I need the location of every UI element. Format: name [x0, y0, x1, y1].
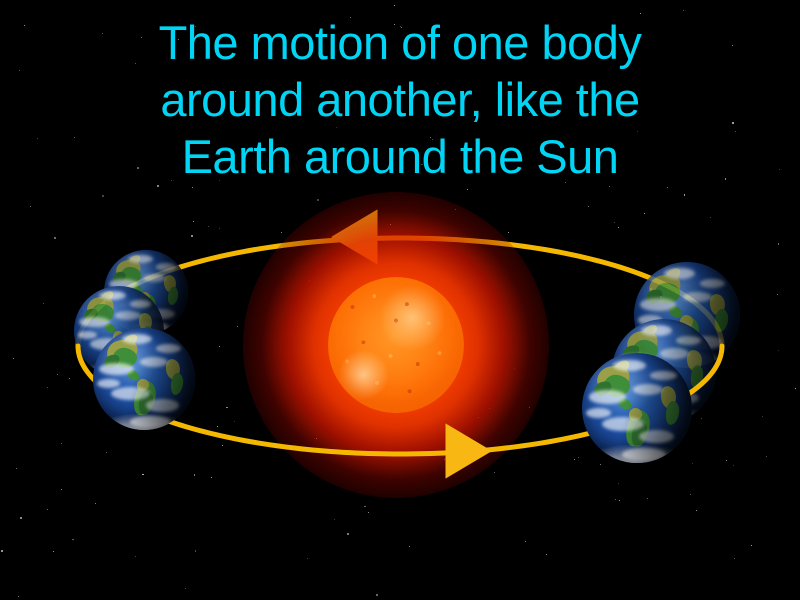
star	[47, 387, 48, 388]
star	[733, 465, 734, 466]
star	[157, 185, 159, 187]
star	[644, 213, 645, 214]
star	[376, 594, 378, 596]
sun-disc	[328, 277, 464, 413]
earth-right-front	[582, 353, 692, 463]
star	[394, 5, 395, 6]
star	[710, 217, 711, 218]
star	[588, 206, 589, 207]
star	[222, 445, 223, 446]
star	[16, 468, 17, 469]
star	[191, 235, 193, 237]
star	[18, 596, 19, 597]
star	[795, 388, 796, 389]
star	[135, 556, 136, 557]
sun-granulation-texture	[328, 277, 464, 413]
star	[13, 358, 14, 359]
title-line-3: Earth around the Sun	[0, 128, 800, 185]
title-line-2: around another, like the	[0, 71, 800, 128]
star	[619, 500, 620, 501]
star	[600, 464, 601, 465]
star	[211, 477, 212, 478]
star	[615, 499, 616, 500]
star	[237, 326, 238, 327]
star	[546, 554, 547, 555]
star	[219, 346, 220, 347]
star	[692, 463, 693, 464]
star	[467, 189, 468, 190]
star	[574, 459, 575, 460]
star	[525, 541, 526, 542]
star	[194, 474, 196, 476]
day-night-terminator	[582, 353, 692, 463]
star	[61, 443, 62, 444]
star	[53, 551, 54, 552]
star	[364, 506, 366, 508]
star	[334, 519, 335, 520]
earth-left-front	[93, 328, 195, 430]
star	[20, 517, 22, 519]
title-line-1: The motion of one body	[0, 14, 800, 71]
star	[683, 10, 684, 11]
star	[54, 237, 56, 239]
star	[95, 503, 96, 504]
star	[647, 498, 648, 499]
star	[192, 187, 193, 188]
star	[696, 510, 697, 511]
star	[684, 194, 686, 196]
star	[347, 533, 349, 535]
star	[762, 416, 763, 417]
star	[61, 489, 62, 490]
star	[368, 512, 369, 513]
star	[609, 186, 610, 187]
star	[618, 227, 619, 228]
day-night-terminator	[93, 328, 195, 430]
star	[226, 407, 228, 409]
star	[734, 558, 735, 559]
star	[219, 228, 220, 229]
star	[217, 426, 218, 427]
star	[409, 546, 410, 547]
star	[751, 545, 752, 546]
star	[57, 374, 58, 375]
star	[777, 294, 778, 295]
star	[47, 509, 49, 511]
star	[43, 303, 44, 304]
star	[208, 226, 209, 227]
star	[778, 350, 779, 351]
star	[1, 550, 3, 552]
star	[195, 550, 197, 552]
star	[578, 457, 579, 458]
star	[142, 474, 144, 476]
star	[72, 539, 74, 541]
star	[307, 558, 308, 559]
star	[234, 421, 235, 422]
star	[193, 221, 194, 222]
star	[30, 206, 31, 207]
star	[667, 187, 668, 188]
slide-canvas: The motion of one body around another, l…	[0, 0, 800, 600]
star	[726, 460, 727, 461]
star	[69, 378, 70, 379]
star	[778, 243, 780, 245]
star	[185, 588, 186, 589]
star	[102, 195, 104, 197]
star	[618, 483, 619, 484]
star	[614, 222, 615, 223]
star	[106, 452, 107, 453]
sun	[243, 192, 549, 498]
page-title: The motion of one body around another, l…	[0, 14, 800, 185]
star	[766, 456, 767, 457]
star	[690, 494, 691, 495]
